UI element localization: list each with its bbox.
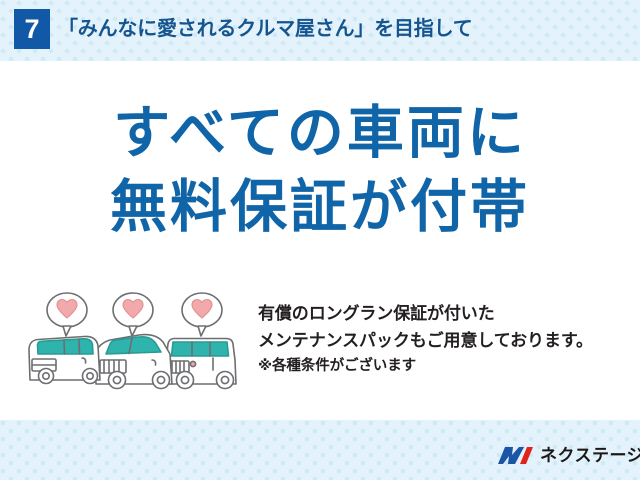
heart-bubble-3 [182,293,222,336]
step-number-badge: 7 [14,9,50,49]
brand-name: ネクステージ [540,444,640,468]
side-copy-line-2: メンテナンスパックもご用意しております。 [258,327,630,354]
car-minivan [95,335,172,389]
side-copy-note: ※各種条件がございます [258,354,630,379]
header: 7 「みんなに愛されるクルマ屋さん」を目指して [0,0,640,61]
content-row: 有償のロングラン保証が付いた メンテナンスパックもご用意しております。 ※各種条… [0,288,640,403]
heart-bubble-2 [113,293,153,336]
three-cars-illustration [22,288,252,400]
side-copy-line-1: 有償のロングラン保証が付いた [258,300,630,327]
car-kei-wagon [29,336,100,383]
headline: すべての車両に 無料保証が付帯 [0,96,640,244]
headline-line-2: 無料保証が付帯 [0,170,640,244]
headline-line-1: すべての車両に [0,96,640,170]
nextage-n-mark-icon [496,443,536,469]
car-suv [166,339,236,389]
header-title: 「みんなに愛されるクルマ屋さん」を目指して [58,11,618,47]
heart-bubble-1 [47,293,87,336]
promo-banner: 7 「みんなに愛されるクルマ屋さん」を目指して すべての車両に 無料保証が付帯 [0,0,640,480]
brand-logo: ネクステージ [496,440,624,472]
side-copy: 有償のロングラン保証が付いた メンテナンスパックもご用意しております。 ※各種条… [258,300,630,379]
